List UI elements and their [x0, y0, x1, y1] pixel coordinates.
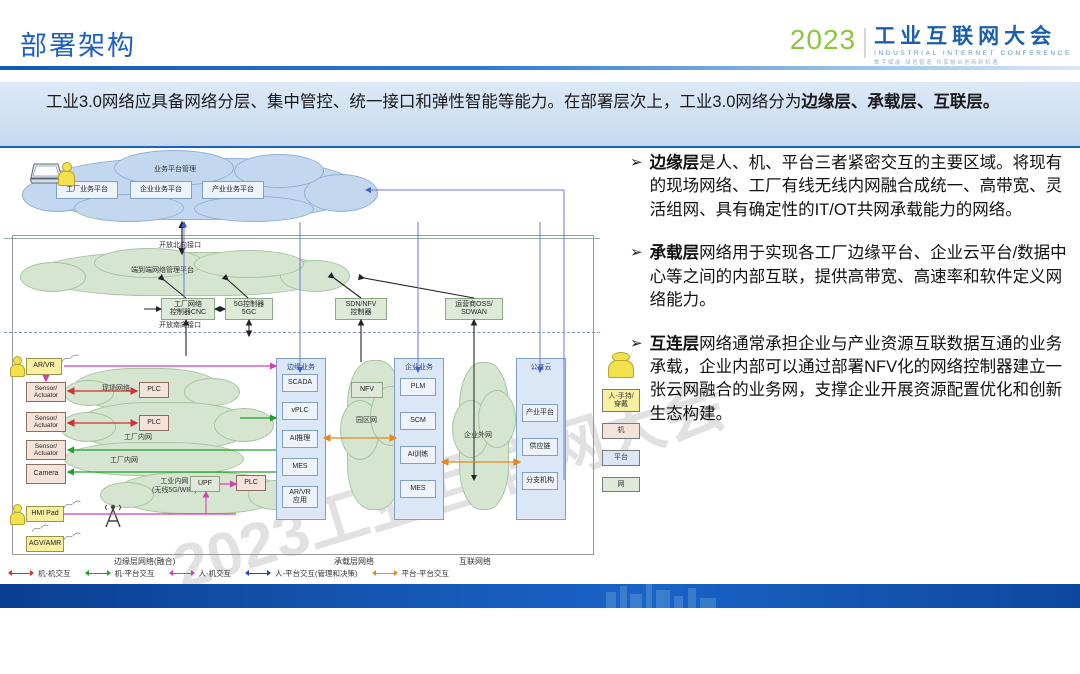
legend-arrow-red — [8, 570, 34, 577]
bullet-interconnect-bold: 互连层 — [650, 335, 700, 353]
bullet-bearer-bold: 承载层 — [650, 244, 700, 262]
legend-item-human-machine: 人-机交互 — [169, 568, 232, 579]
bullet-bearer-text: 网络用于实现各工厂边缘平台、企业云平台/数据中心等之间的内部互联，提供高带宽、高… — [650, 244, 1067, 309]
lead-bold: 边缘层、承载层、互联层。 — [801, 93, 999, 111]
bullet-interconnect-layer: ➢ 互连层网络通常承担企业与产业资源互联数据互通的业务承载，企业内部可以通过部署… — [630, 333, 1070, 427]
interaction-legend: 机-机交互 机-平台交互 人-机交互 人-平台交互(管理和决策) 平台-平台交互 — [8, 562, 608, 584]
icon-legend-machine-label: 机 — [618, 427, 625, 434]
legend-item-platform-platform: 平台-平台交互 — [372, 568, 450, 579]
icon-legend-network-label: 网 — [618, 481, 625, 488]
bullet-edge-text: 是人、机、平台三者紧密交互的主要区域。将现有的现场网络、工厂有线无线内网融合成统… — [650, 154, 1063, 219]
title-rule — [0, 66, 1080, 70]
legend-arrow-green — [85, 570, 111, 577]
bullet-marker: ➢ — [630, 333, 643, 427]
bullet-list: ➢ 边缘层是人、机、平台三者紧密交互的主要区域。将现有的现场网络、工厂有线无线内… — [630, 152, 1070, 446]
legend-arrow-blue — [245, 570, 271, 577]
icon-legend-platform: 平台 — [602, 450, 640, 466]
architecture-diagram: 2023工业互联网大会 业务平台管理 工厂业务平台 企业业务平台 产业业务平台 … — [4, 150, 604, 590]
bullet-edge-bold: 边缘层 — [650, 154, 700, 172]
bullet-marker: ➢ — [630, 242, 643, 312]
skyline-graphic — [600, 584, 800, 608]
legend-item-human-platform: 人-平台交互(管理和决策) — [245, 568, 358, 579]
legend-arrow-orange — [372, 570, 398, 577]
logo-title-en: INDUSTRIAL INTERNET CONFERENCE — [874, 50, 1072, 57]
legend-label-platform-platform: 平台-平台交互 — [402, 568, 450, 579]
lead-text: 工业3.0网络应具备网络分层、集中管控、统一接口和弹性智能等能力。在部署层次上，… — [46, 93, 801, 111]
legend-label-machine-platform: 机-平台交互 — [115, 568, 155, 579]
legend-item-machine-machine: 机-机交互 — [8, 568, 71, 579]
bullet-bearer-layer: ➢ 承载层网络用于实现各工厂边缘平台、企业云平台/数据中心等之间的内部互联，提供… — [630, 242, 1070, 312]
logo-year: 2023 — [790, 26, 864, 54]
bullet-edge-layer: ➢ 边缘层是人、机、平台三者紧密交互的主要区域。将现有的现场网络、工厂有线无线内… — [630, 152, 1070, 222]
diagram-connectors — [4, 150, 604, 570]
bullet-interconnect-text: 网络通常承担企业与产业资源互联数据互通的业务承载，企业内部可以通过部署NFV化的… — [650, 335, 1063, 423]
bullet-marker: ➢ — [630, 152, 643, 222]
logo-subtitle: 数字赋能 绿色智造 共享融合创新新机遇 — [874, 58, 1072, 66]
lead-paragraph: 工业3.0网络应具备网络分层、集中管控、统一接口和弹性智能等能力。在部署层次上，… — [0, 82, 1080, 148]
legend-item-machine-platform: 机-平台交互 — [85, 568, 155, 579]
logo-title-cn: 工业互联网大会 — [874, 26, 1072, 48]
page-title: 部署架构 — [20, 24, 136, 63]
bottom-bar — [0, 584, 1080, 608]
page-header: 部署架构 2023 工业互联网大会 INDUSTRIAL INTERNET CO… — [0, 0, 1080, 84]
icon-legend-platform-label: 平台 — [614, 454, 628, 461]
conference-logo: 2023 工业互联网大会 INDUSTRIAL INTERNET CONFERE… — [790, 26, 1072, 66]
legend-label-machine-machine: 机-机交互 — [38, 568, 71, 579]
legend-label-human-platform: 人-平台交互(管理和决策) — [275, 568, 358, 579]
legend-label-human-machine: 人-机交互 — [199, 568, 232, 579]
icon-legend-network: 网 — [602, 477, 640, 493]
legend-arrow-magenta — [169, 570, 195, 577]
logo-divider — [864, 28, 866, 58]
